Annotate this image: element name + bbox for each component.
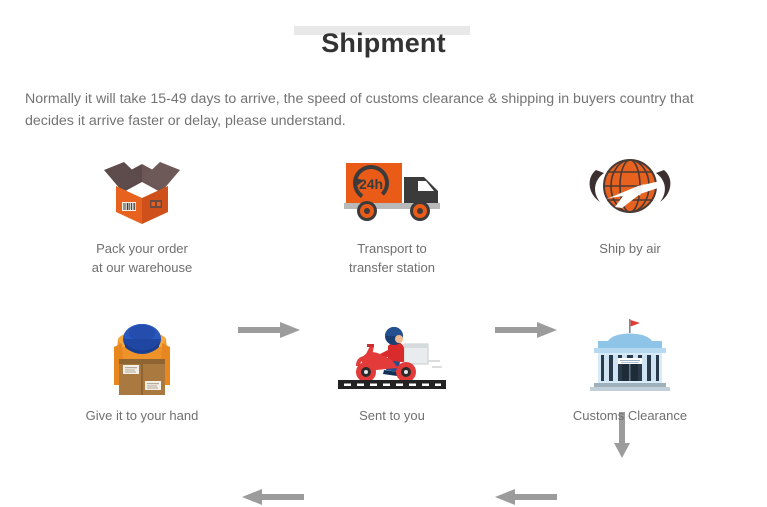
step-pack-label-line1: Pack your order: [52, 240, 232, 259]
step-customs-label-line1: Customs Clearance: [540, 407, 720, 426]
globe-airplane-icon: [540, 148, 720, 228]
step-hand: Give it to your hand: [52, 315, 232, 426]
step-sent-label-line1: Sent to you: [302, 407, 482, 426]
step-pack-caption: Pack your order at our warehouse: [52, 240, 232, 278]
arrow-left-customs-to-sent: [495, 487, 557, 507]
customs-building-icon: [540, 315, 720, 395]
arrow-left-sent-to-hand: [242, 487, 304, 507]
truck-24h-badge-text: 24h: [359, 176, 383, 192]
intro-paragraph: Normally it will take 15-49 days to arri…: [25, 88, 740, 132]
step-sent: Sent to you: [302, 315, 482, 426]
step-sent-caption: Sent to you: [302, 407, 482, 426]
delivery-truck-icon: 24h: [302, 148, 482, 228]
step-customs-caption: Customs Clearance: [540, 407, 720, 426]
step-air: Ship by air: [540, 148, 720, 259]
step-transport-caption: Transport to transfer station: [302, 240, 482, 278]
step-pack: Pack your order at our warehouse: [52, 148, 232, 278]
scooter-courier-icon: [302, 315, 482, 395]
shipment-flow: Pack your order at our warehouse: [0, 140, 767, 440]
step-air-caption: Ship by air: [540, 240, 720, 259]
step-transport-label-line1: Transport to: [302, 240, 482, 259]
step-air-label-line1: Ship by air: [540, 240, 720, 259]
courier-carrying-box-icon: [52, 315, 232, 395]
step-customs: Customs Clearance: [540, 315, 720, 426]
step-pack-label-line2: at our warehouse: [52, 259, 232, 278]
open-box-icon: [52, 148, 232, 228]
page-title: Shipment: [321, 28, 446, 59]
arrow-right-pack-to-transport: [238, 320, 300, 340]
step-transport-label-line2: transfer station: [302, 259, 482, 278]
step-hand-caption: Give it to your hand: [52, 407, 232, 426]
page-title-wrap: Shipment: [0, 22, 767, 64]
step-transport: 24h Transport to transfer station: [302, 148, 482, 278]
step-hand-label-line1: Give it to your hand: [52, 407, 232, 426]
